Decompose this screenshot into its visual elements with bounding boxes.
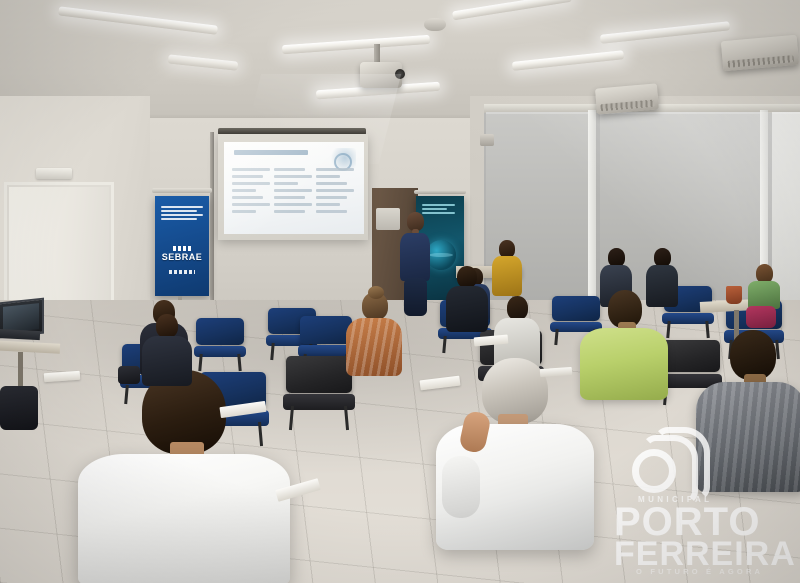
photo-scene: SEBRAE xyxy=(0,0,800,583)
ceiling-projector xyxy=(360,62,402,88)
banner-top-rail xyxy=(414,190,466,194)
person-patterned-top xyxy=(346,292,402,376)
split-air-conditioner xyxy=(595,83,659,114)
stacking-chair[interactable] xyxy=(196,318,244,366)
person-front-left xyxy=(142,314,192,384)
person-striped-right xyxy=(696,330,800,490)
banner-sebrae: SEBRAE xyxy=(155,196,209,296)
banner-top-rail xyxy=(152,188,212,193)
person-pink-pants xyxy=(746,264,782,326)
smoke-detector-icon xyxy=(424,18,446,31)
sebrae-wordmark: SEBRAE xyxy=(161,252,203,262)
stacking-chair[interactable] xyxy=(286,356,352,422)
wall-panel xyxy=(376,208,400,230)
sebrae-underline xyxy=(169,270,195,274)
person-dark-hair-center xyxy=(446,266,488,330)
screen-glare xyxy=(224,142,364,234)
wall-vent xyxy=(480,134,494,146)
person-presenter xyxy=(398,212,432,316)
banner-headline xyxy=(161,206,203,222)
person-grey-hair xyxy=(436,358,594,548)
door-sign xyxy=(36,168,72,179)
coffee-cup xyxy=(726,286,742,304)
bag xyxy=(118,366,140,384)
sebrae-mark xyxy=(173,246,191,251)
screen-support-pole xyxy=(210,132,214,310)
bag xyxy=(0,386,38,430)
arm xyxy=(442,456,480,518)
